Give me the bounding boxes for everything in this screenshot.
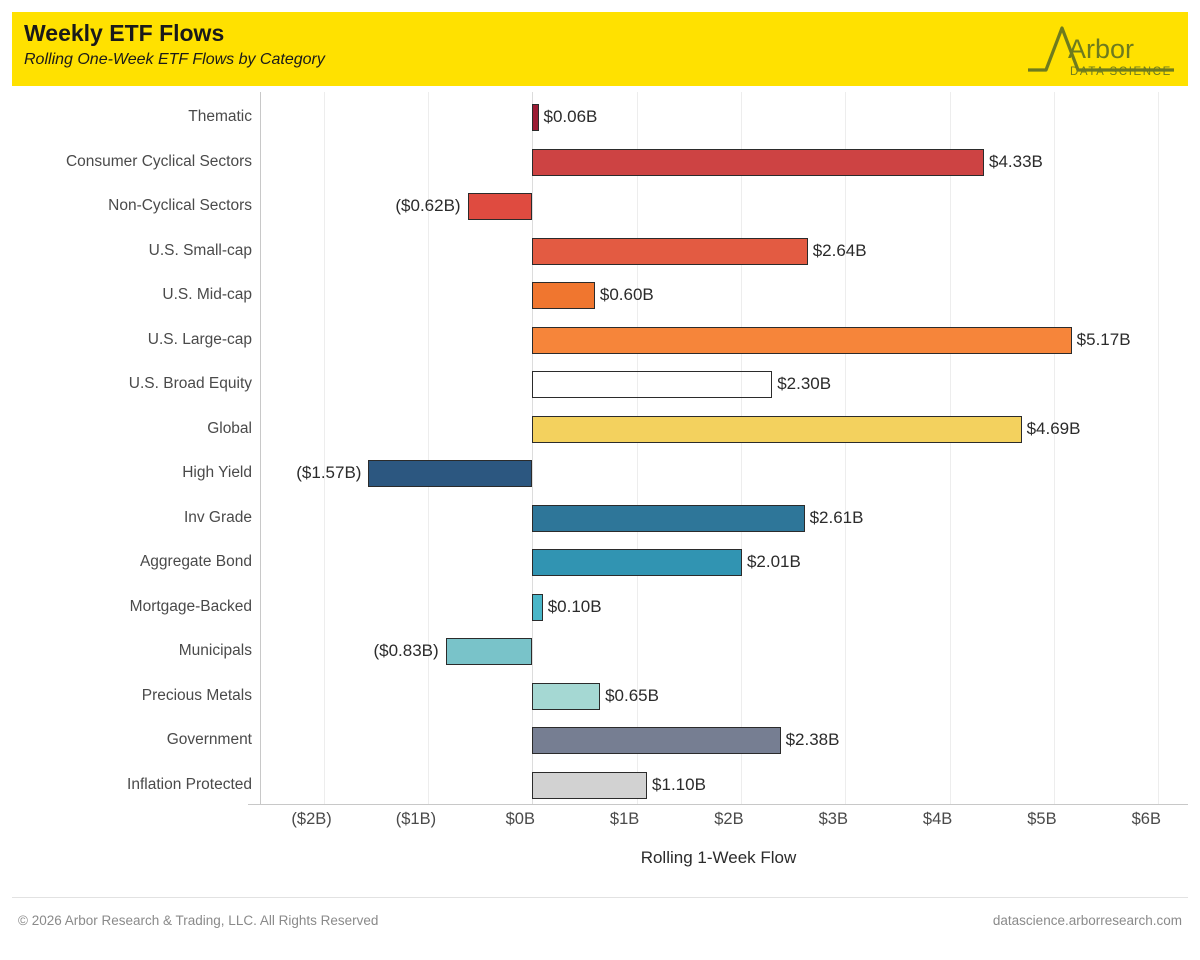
category-label: Consumer Cyclical Sectors	[12, 140, 252, 185]
bar-row: $0.10B	[261, 585, 1200, 630]
category-label: Aggregate Bond	[12, 540, 252, 585]
bar-value-label: $0.06B	[539, 95, 598, 140]
bar[interactable]	[532, 282, 595, 309]
bar-row: $2.01B	[261, 540, 1200, 585]
bar-value-label: $4.69B	[1022, 407, 1081, 452]
category-label: U.S. Broad Equity	[12, 362, 252, 407]
x-axis-tick-label: $2B	[714, 810, 743, 829]
category-label: Mortgage-Backed	[12, 585, 252, 630]
bar-row: $2.30B	[261, 362, 1200, 407]
category-label: Global	[12, 407, 252, 452]
bar[interactable]	[446, 638, 533, 665]
bar[interactable]	[532, 149, 984, 176]
bar[interactable]	[532, 683, 600, 710]
bar[interactable]	[532, 549, 742, 576]
footer-copyright: © 2026 Arbor Research & Trading, LLC. Al…	[18, 913, 378, 928]
x-axis: ($2B)($1B)$0B$1B$2B$3B$4B$5B$6B	[12, 804, 1188, 838]
bar-row: $4.33B	[261, 140, 1200, 185]
logo-wordmark: Arbor	[1068, 34, 1134, 64]
category-label: Inv Grade	[12, 496, 252, 541]
page-title: Weekly ETF Flows	[24, 18, 325, 48]
bar-value-label: ($0.83B)	[373, 629, 445, 674]
bar[interactable]	[532, 727, 780, 754]
bar-row: ($1.57B)	[261, 451, 1200, 496]
bar-value-label: $2.38B	[781, 718, 840, 763]
bar-row: $5.17B	[261, 318, 1200, 363]
x-axis-tick-label: ($1B)	[396, 810, 436, 829]
category-label: U.S. Small-cap	[12, 229, 252, 274]
x-axis-baseline	[248, 804, 1188, 805]
x-axis-tick-label: $6B	[1132, 810, 1161, 829]
bar-value-label: ($0.62B)	[395, 184, 467, 229]
bar-row: ($0.62B)	[261, 184, 1200, 229]
x-axis-tick-label: $5B	[1027, 810, 1056, 829]
bar[interactable]	[532, 238, 807, 265]
bar-row: $0.65B	[261, 674, 1200, 719]
bar[interactable]	[468, 193, 533, 220]
bar-row: $2.64B	[261, 229, 1200, 274]
bar[interactable]	[532, 594, 542, 621]
page-subtitle: Rolling One-Week ETF Flows by Category	[24, 48, 325, 72]
bar-row: $0.60B	[261, 273, 1200, 318]
bar-row: $0.06B	[261, 95, 1200, 140]
category-label: High Yield	[12, 451, 252, 496]
bar[interactable]	[532, 327, 1071, 354]
bar-value-label: ($1.57B)	[296, 451, 368, 496]
plot-frame: $0.06B$4.33B($0.62B)$2.64B$0.60B$5.17B$2…	[12, 92, 1188, 804]
bar[interactable]	[368, 460, 532, 487]
category-label: U.S. Mid-cap	[12, 273, 252, 318]
x-axis-tick-label: $1B	[610, 810, 639, 829]
logo-tagline: DATA SCIENCE	[1070, 66, 1172, 78]
category-label: Non-Cyclical Sectors	[12, 184, 252, 229]
bar-value-label: $0.10B	[543, 585, 602, 630]
bar[interactable]	[532, 505, 804, 532]
bar-value-label: $2.30B	[772, 362, 831, 407]
category-label: Inflation Protected	[12, 763, 252, 808]
chart-page: Weekly ETF Flows Rolling One-Week ETF Fl…	[0, 0, 1200, 960]
bar-row: $2.38B	[261, 718, 1200, 763]
bar-value-label: $2.61B	[805, 496, 864, 541]
bar-row: $2.61B	[261, 496, 1200, 541]
x-axis-tick-label: $0B	[506, 810, 535, 829]
header-titles: Weekly ETF Flows Rolling One-Week ETF Fl…	[24, 18, 325, 72]
x-axis-title: Rolling 1-Week Flow	[249, 848, 1188, 868]
bar-value-label: $5.17B	[1072, 318, 1131, 363]
logo-svg: Arbor DATA SCIENCE	[1024, 18, 1174, 80]
x-axis-tick-label: $3B	[819, 810, 848, 829]
category-label: Government	[12, 718, 252, 763]
plot-area: $0.06B$4.33B($0.62B)$2.64B$0.60B$5.17B$2…	[261, 92, 1188, 804]
arbor-data-science-logo: Arbor DATA SCIENCE	[1024, 18, 1174, 80]
bar[interactable]	[532, 772, 647, 799]
header-banner: Weekly ETF Flows Rolling One-Week ETF Fl…	[12, 12, 1188, 86]
footer-divider	[12, 897, 1188, 898]
category-label: U.S. Large-cap	[12, 318, 252, 363]
bar-row: $1.10B	[261, 763, 1200, 808]
bar-row: $4.69B	[261, 407, 1200, 452]
bar-value-label: $4.33B	[984, 140, 1043, 185]
bar-row: ($0.83B)	[261, 629, 1200, 674]
bar[interactable]	[532, 416, 1021, 443]
category-label: Precious Metals	[12, 674, 252, 719]
x-axis-tick-label: $4B	[923, 810, 952, 829]
bar-value-label: $2.64B	[808, 229, 867, 274]
bar-value-label: $0.60B	[595, 273, 654, 318]
bar-value-label: $2.01B	[742, 540, 801, 585]
x-axis-tick-label: ($2B)	[291, 810, 331, 829]
bar[interactable]	[532, 371, 772, 398]
category-label: Thematic	[12, 95, 252, 140]
bar-value-label: $1.10B	[647, 763, 706, 808]
bar-value-label: $0.65B	[600, 674, 659, 719]
footer-website: datascience.arborresearch.com	[993, 913, 1182, 928]
category-label: Municipals	[12, 629, 252, 674]
